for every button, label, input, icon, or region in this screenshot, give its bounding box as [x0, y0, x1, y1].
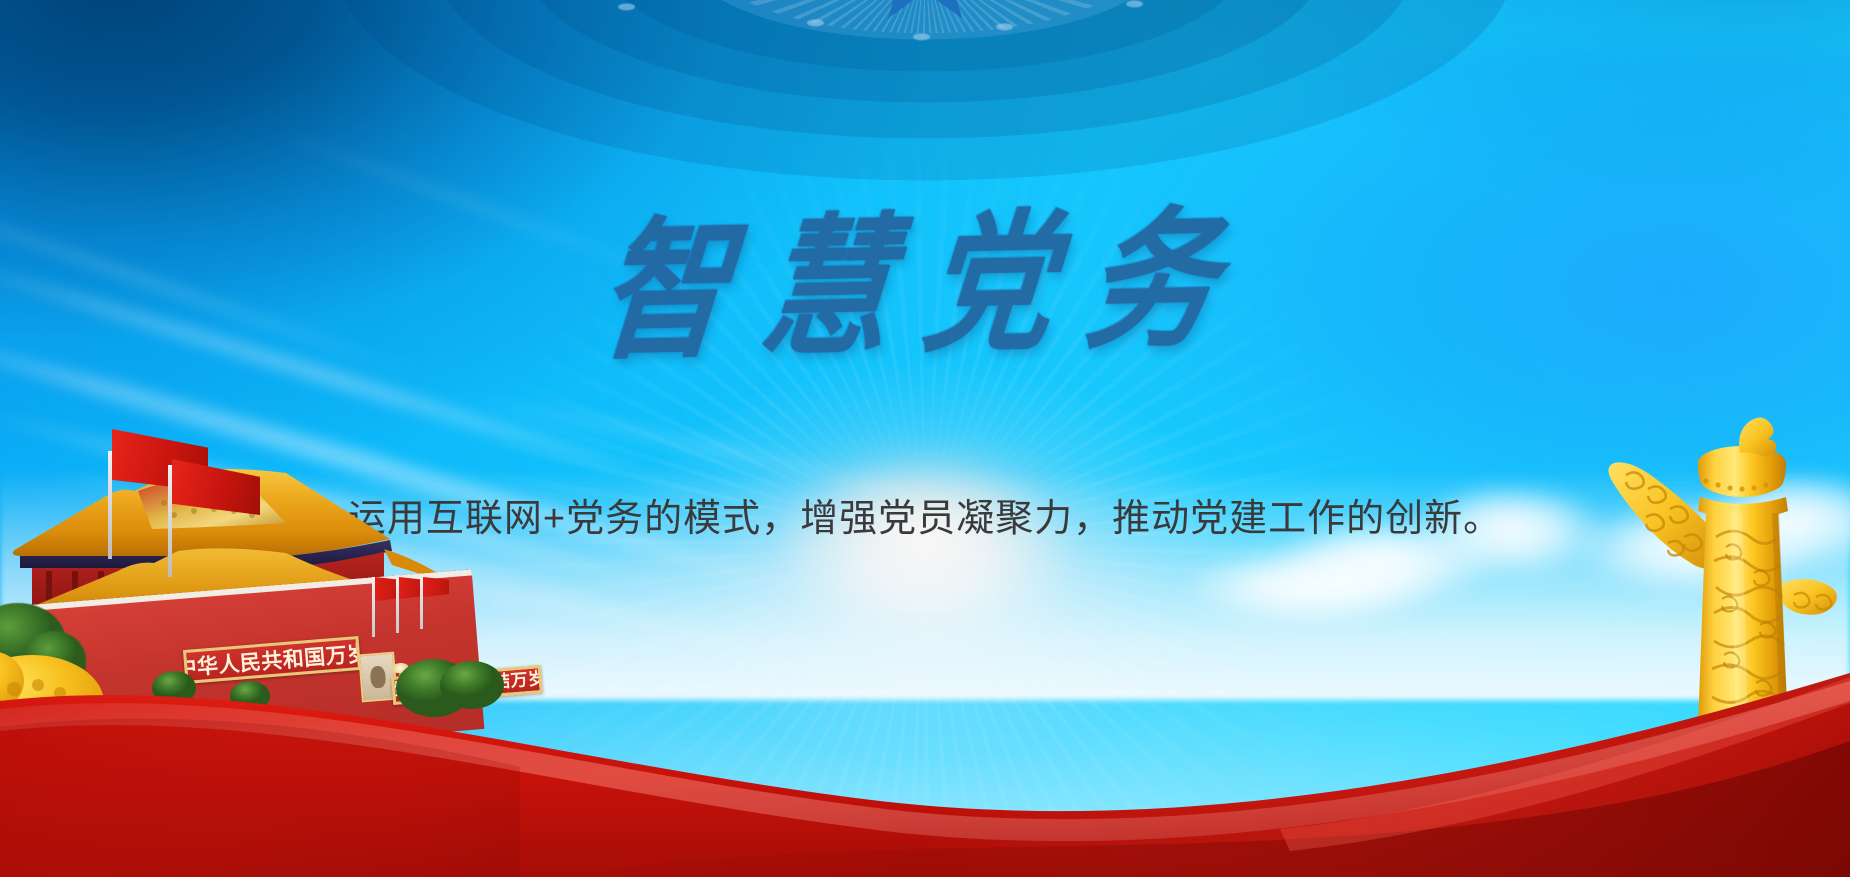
red-silk-ribbon-icon: [0, 577, 1850, 877]
flagpole: [108, 451, 112, 559]
page-subtitle: 运用互联网+党务的模式，增强党员凝聚力，推动党建工作的创新。: [348, 496, 1502, 544]
smart-party-affairs-hero-banner: 智慧党务 运用互联网+党务的模式，增强党员凝聚力，推动党建工作的创新。: [0, 0, 1850, 877]
flagpole: [168, 465, 172, 577]
